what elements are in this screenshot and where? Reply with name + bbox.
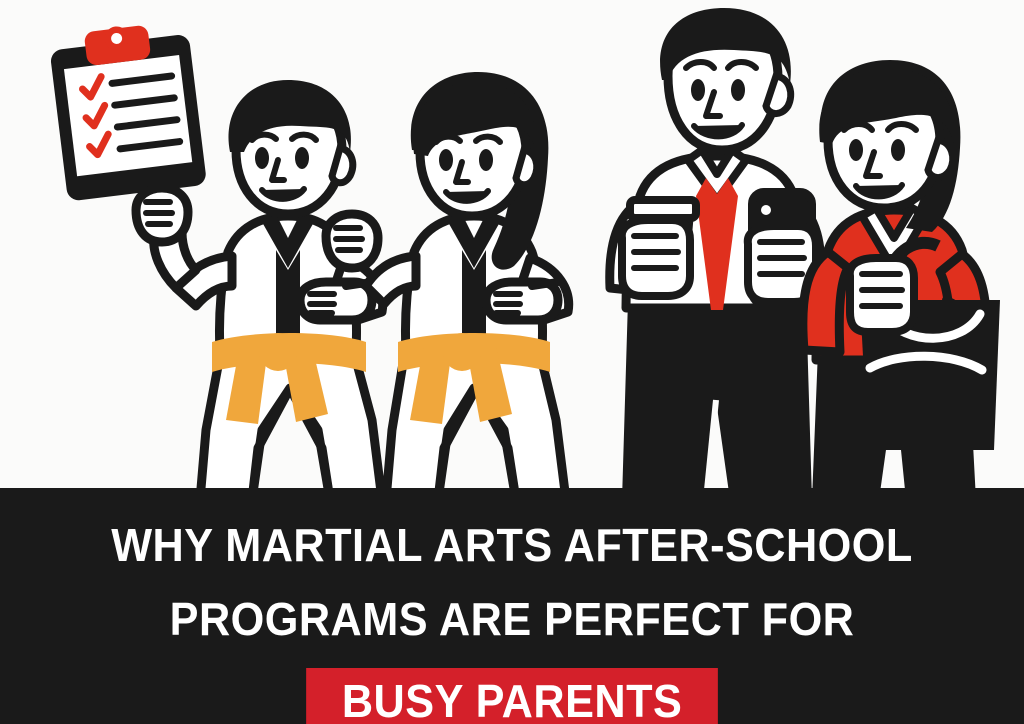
headline-highlight-wrapper: BUSY PARENTS: [0, 668, 1024, 724]
girl-raised-fist: [326, 214, 378, 268]
girl-thumb-fist: [486, 282, 558, 320]
father-left-hand: [622, 220, 690, 296]
headline-banner: WHY MARTIAL ARTS AFTER-SCHOOL PROGRAMS A…: [0, 488, 1024, 724]
poster-root: .ink { fill:#1a1a1a; } .paper { fill:#ff…: [0, 0, 1024, 724]
headline-line-1: WHY MARTIAL ARTS AFTER-SCHOOL: [31, 522, 994, 568]
headline-line-2: PROGRAMS ARE PERFECT FOR: [31, 596, 994, 642]
boy-thumb-fist: [300, 282, 372, 320]
headline-highlight: BUSY PARENTS: [306, 668, 718, 724]
boy-raised-fist: [136, 188, 188, 242]
mother-strap-hand: [850, 258, 914, 332]
